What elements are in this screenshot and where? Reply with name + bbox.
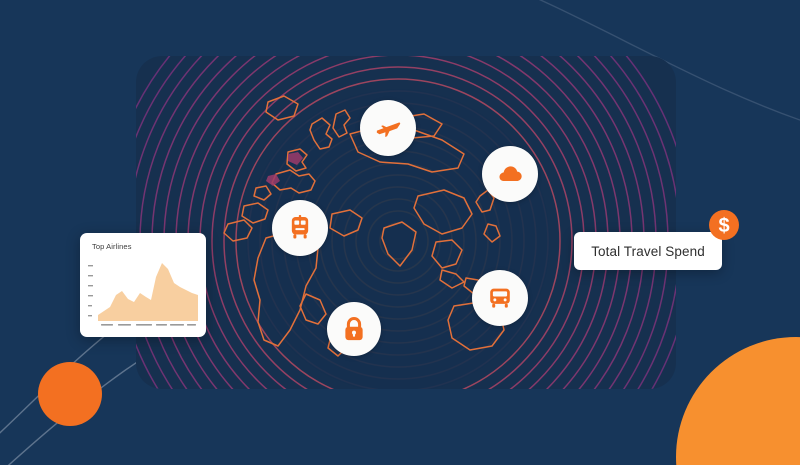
x-axis-ticks <box>101 324 196 326</box>
dollar-sign-icon: $ <box>708 209 740 241</box>
airplane-glyph <box>374 114 402 142</box>
orange-circle-small <box>38 362 102 426</box>
dollar-badge: $ <box>708 209 740 241</box>
airplane-icon[interactable] <box>360 100 416 156</box>
total-travel-spend-label: Total Travel Spend <box>591 244 705 259</box>
y-axis-ticks <box>88 265 93 316</box>
lock-glyph <box>340 315 368 343</box>
bus-icon[interactable] <box>472 270 528 326</box>
hero-illustration: Top Airlines <box>0 0 800 465</box>
total-travel-spend-card[interactable]: Total Travel Spend <box>574 232 722 270</box>
svg-text:$: $ <box>718 215 729 237</box>
train-icon[interactable] <box>272 200 328 256</box>
cloud-icon[interactable] <box>482 146 538 202</box>
cloud-glyph <box>496 160 524 188</box>
lock-icon[interactable] <box>327 302 381 356</box>
top-airlines-card[interactable]: Top Airlines <box>80 233 206 337</box>
area-chart <box>88 257 198 329</box>
area-series-path <box>98 263 198 321</box>
train-glyph <box>286 214 314 242</box>
area-chart-svg <box>88 257 198 329</box>
bus-glyph <box>486 284 514 312</box>
chart-title: Top Airlines <box>92 242 132 251</box>
